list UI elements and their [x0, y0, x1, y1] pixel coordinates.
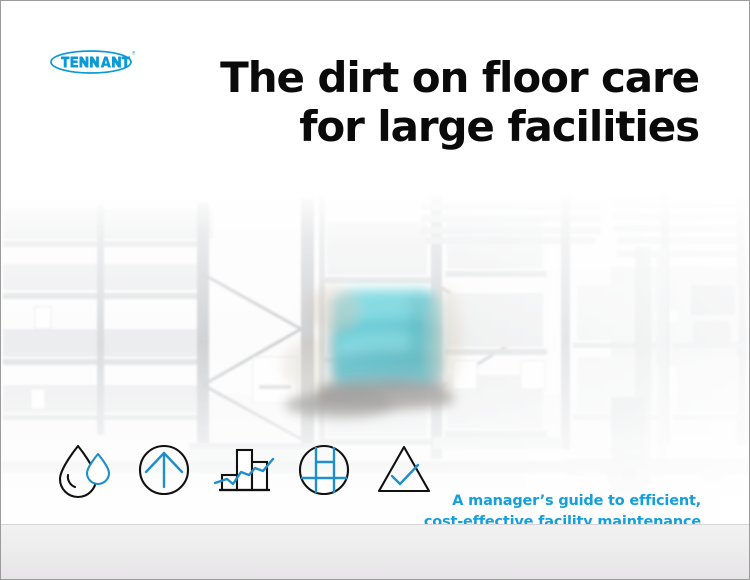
page-title: The dirt on floor care for large facilit… — [179, 53, 699, 151]
footer-band — [1, 524, 749, 579]
water-drop-icon — [53, 439, 115, 501]
subtitle-line-1: A manager’s guide to efficient, — [424, 491, 701, 512]
title-line-2: for large facilities — [179, 102, 699, 151]
up-arrow-circle-icon — [133, 439, 195, 501]
header-band: ® The dirt on floor care for large facil… — [1, 1, 749, 191]
ebook-cover-page: ® The dirt on floor care for large facil… — [0, 0, 750, 580]
circle-grid-icon — [293, 439, 355, 501]
icon-row — [53, 439, 435, 501]
tennant-logo: ® — [49, 46, 135, 78]
logo-trademark-symbol: ® — [132, 50, 136, 57]
title-line-1: The dirt on floor care — [179, 53, 699, 102]
bar-chart-trend-icon — [213, 439, 275, 501]
